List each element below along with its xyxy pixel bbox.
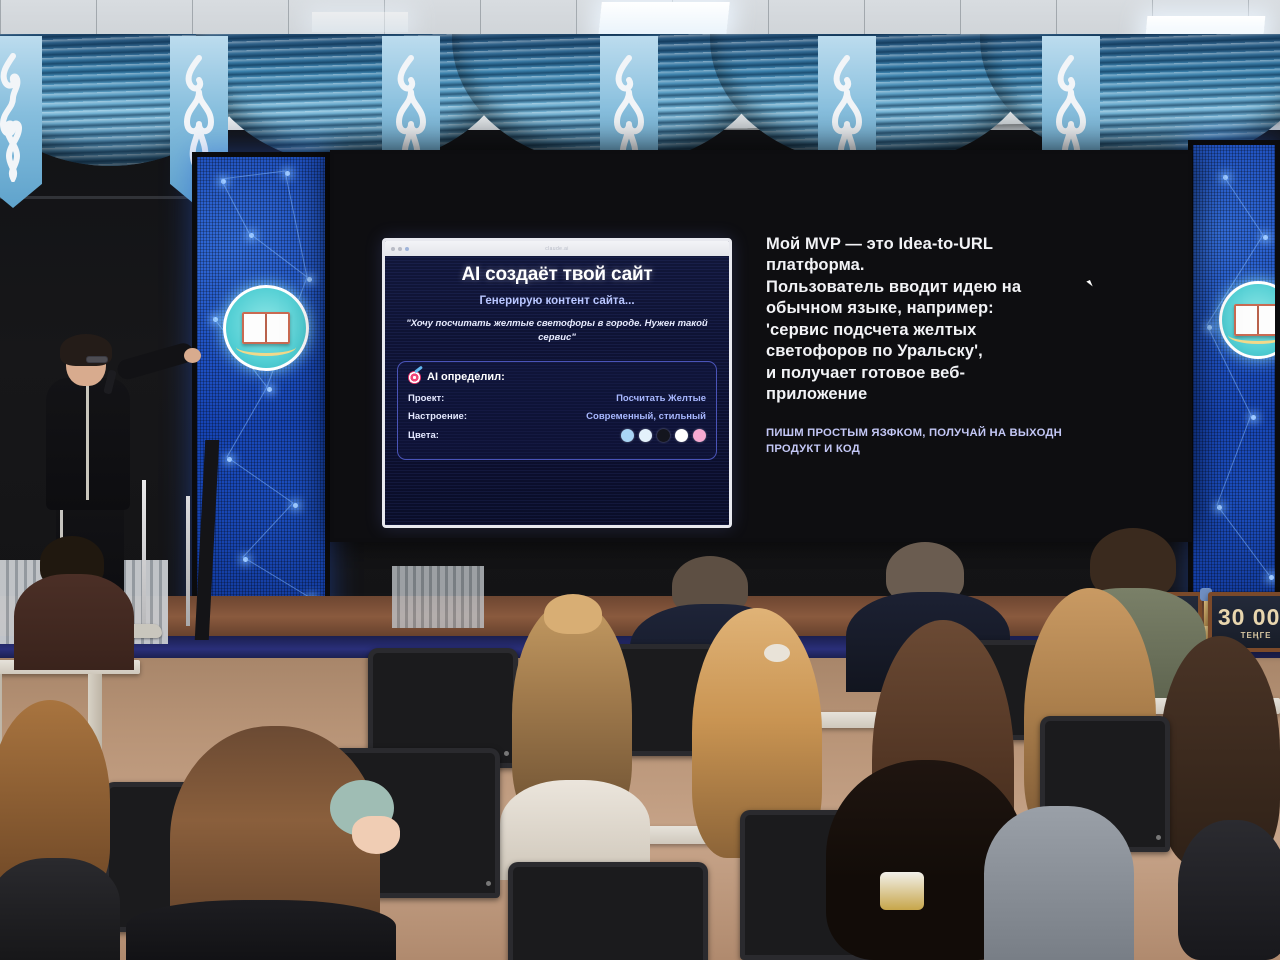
audience-hand [352,816,400,854]
ceiling-light [312,12,408,32]
audience-torso [1178,820,1280,960]
close-dot-icon[interactable] [391,247,395,251]
wheat-wreath-icon [236,338,296,356]
slide-body: AI создаёт твой сайт Генерирую контент с… [385,256,729,528]
slide-title: AI создаёт твой сайт [397,264,717,286]
card-heading-label: AI определил: [427,371,505,383]
card-header: AI определил: [408,371,706,384]
browser-title-bar: claude.ai [385,241,729,256]
mic-stand [186,496,190,626]
user-prompt-quote: "Хочу посчитать желтые светофоры в город… [397,317,717,346]
audience-torso [0,858,120,960]
row-value: Современный, стильный [586,411,706,422]
led-panel-left [192,152,330,640]
generation-status-text: Генерирую контент сайта... [397,295,717,307]
narration-line: приложение [766,384,1096,405]
narration-line: 'сервис подсчета желтых [766,320,1096,341]
row-label: Настроение: [408,411,467,422]
narration-line: обычном языке, например: [766,298,1096,319]
audience-torso [984,806,1134,960]
hair-claw-clip [880,872,924,910]
hair-scrunchie [764,644,790,662]
university-emblem [223,285,309,371]
kazakh-ornament-icon [0,52,33,182]
narration-line: Мой MVP — это Idea-to-URL [766,234,1096,255]
conference-photo-scene: claude.ai AI создаёт твой сайт Генерирую… [0,0,1280,960]
detail-row: Настроение: Современный, стильный [408,411,706,422]
color-swatch[interactable] [621,429,634,442]
color-swatch[interactable] [675,429,688,442]
maximize-dot-icon[interactable] [405,247,409,251]
ai-detection-card: AI определил: Проект: Посчитать Желтые Н… [397,361,717,460]
minimize-dot-icon[interactable] [398,247,402,251]
presenter-glasses-icon [86,356,108,363]
narration-line: Пользователь вводит идею на [766,277,1096,298]
main-led-screen: claude.ai AI создаёт твой сайт Генерирую… [330,150,1192,542]
row-value: Посчитать Желтые [616,393,706,404]
prize-amount: 30 000 [1218,604,1280,631]
presenter-hand-pointing [184,348,201,363]
dart-target-icon [408,371,421,384]
address-bar-text[interactable]: claude.ai [545,246,569,252]
color-swatch[interactable] [639,429,652,442]
narration-line: и получает готовое веб- [766,363,1096,384]
hoodie-drawstring [86,382,89,500]
color-swatch[interactable] [657,429,670,442]
led-panel-right [1188,140,1280,638]
constellation-lines [1193,145,1280,638]
constellation-lines [197,157,330,640]
color-swatch[interactable] [693,429,706,442]
audience-torso [14,574,134,670]
ornament-banner [0,36,42,208]
row-label: Проект: [408,393,444,404]
narration-text-block: Мой MVP — это Idea-to-URL платформа. Пол… [766,234,1096,457]
narration-line: светофоров по Уральску', [766,341,1096,362]
ceiling-light [598,2,730,36]
screen-content: claude.ai AI создаёт твой сайт Генерирую… [334,154,1188,538]
color-swatch-list [621,429,706,442]
prize-unit: ТЕҢГЕ [1241,631,1272,640]
detail-row: Проект: Посчитать Желтые [408,393,706,404]
narration-footer-text: ПИШМ ПРОСТЫМ ЯЗФКОМ, ПОЛУЧАЙ НА ВЫХОДН П… [766,425,1096,458]
detail-row-colors: Цвета: [408,429,706,442]
chair[interactable] [508,862,708,960]
radiator [392,566,484,628]
browser-mockup-window[interactable]: claude.ai AI создаёт твой сайт Генерирую… [382,238,732,528]
audience-ponytail [544,594,602,634]
row-label: Цвета: [408,430,439,441]
audience-torso [126,900,396,960]
mic-stand [142,480,146,630]
narration-line: платформа. [766,255,1096,276]
wheat-wreath-icon [1228,326,1280,344]
